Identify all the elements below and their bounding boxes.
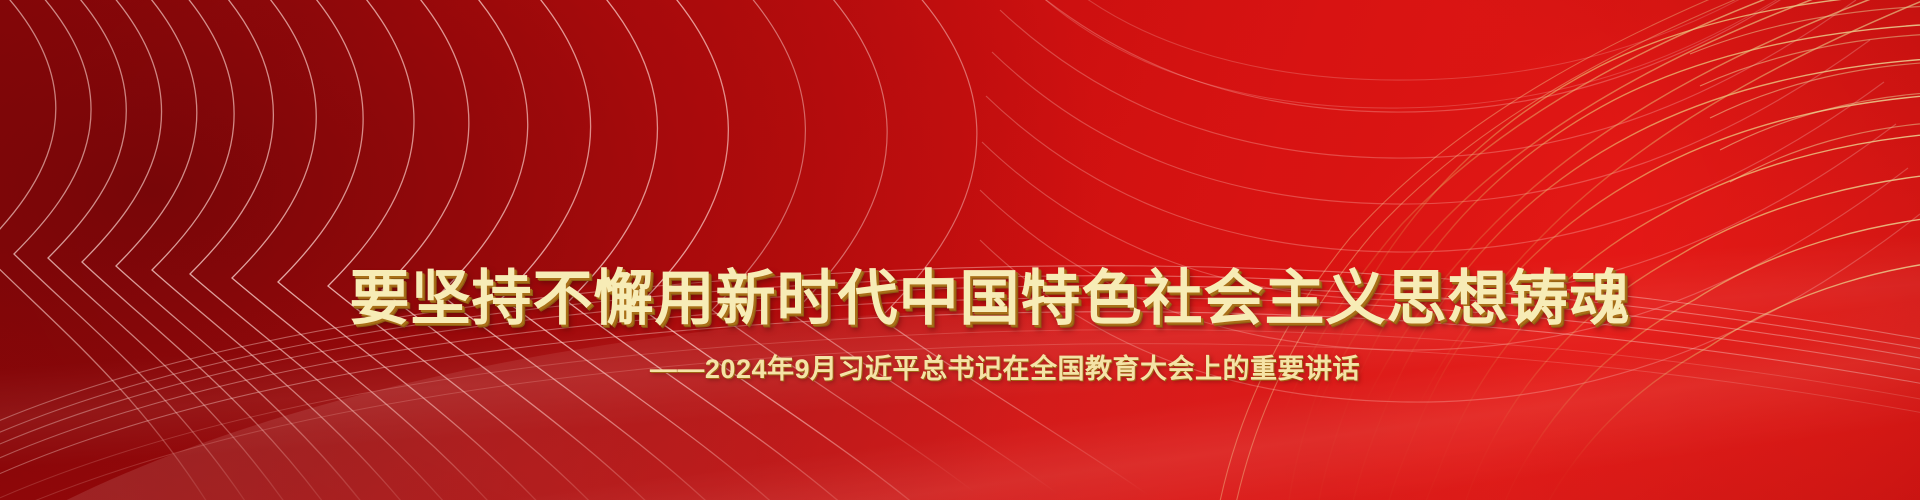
headline-block: 要坚持不懈用新时代中国特色社会主义思想铸魂 育人，实施新时代立德树人工程。: [0, 104, 1920, 500]
banner-content: 要坚持不懈用新时代中国特色社会主义思想铸魂 育人，实施新时代立德树人工程。 ——…: [0, 0, 1920, 500]
slogan-banner: 要坚持不懈用新时代中国特色社会主义思想铸魂 育人，实施新时代立德树人工程。 ——…: [0, 0, 1920, 500]
headline-line-1: 要坚持不懈用新时代中国特色社会主义思想铸魂: [0, 260, 1920, 338]
attribution-text: ——2024年9月习近平总书记在全国教育大会上的重要讲话: [650, 352, 1360, 386]
headline-line-2: 育人，实施新时代立德树人工程。: [0, 494, 1920, 500]
